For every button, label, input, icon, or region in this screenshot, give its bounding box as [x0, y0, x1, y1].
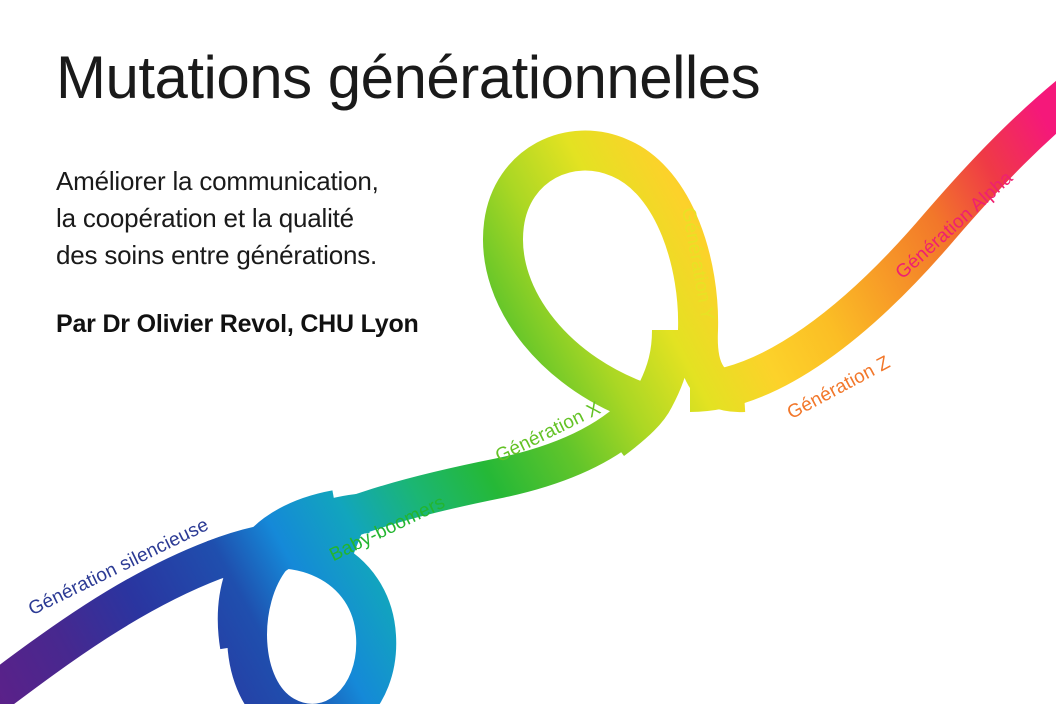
subtitle-line-1: Améliorer la communication,: [56, 163, 786, 200]
byline-author: Par Dr Olivier Revol, CHU Lyon: [56, 310, 786, 339]
ribbon-segment-green-climb: [272, 404, 646, 556]
slide-text-block: Mutations générationnelles Améliorer la …: [56, 44, 786, 339]
page-title: Mutations générationnelles: [56, 44, 786, 111]
subtitle: Améliorer la communication, la coopérati…: [56, 163, 786, 274]
slide-canvas: Mutations générationnelles Améliorer la …: [0, 0, 1056, 704]
subtitle-line-2: la coopération et la qualité: [56, 200, 786, 237]
subtitle-line-3: des soins entre générations.: [56, 237, 786, 274]
